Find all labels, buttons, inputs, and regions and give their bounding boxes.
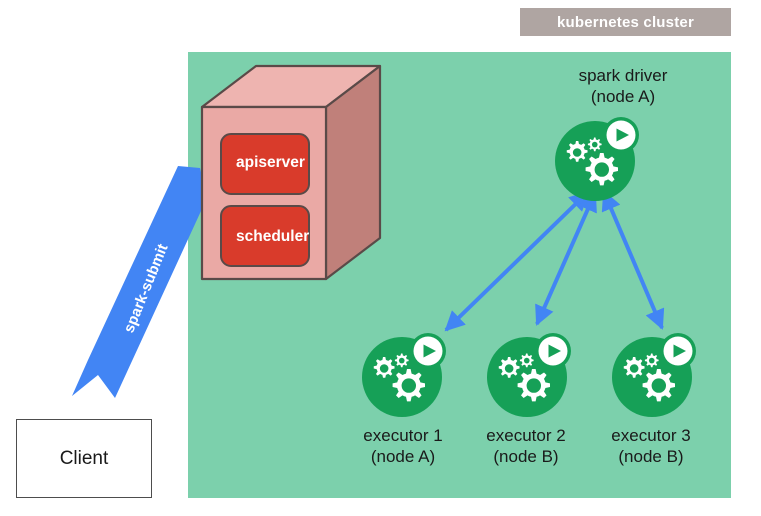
executor-3-label-line1: executor 3: [591, 425, 711, 446]
gears-play-icon: [485, 330, 577, 420]
executor-2-node: [485, 330, 577, 420]
spark-driver-label-line2: (node A): [523, 86, 723, 107]
executor-1-node: [360, 330, 452, 420]
executor-2-label: executor 2 (node B): [466, 425, 586, 468]
executor-3-node: [610, 330, 702, 420]
connection-driver-executor-3: [604, 192, 662, 328]
gears-play-icon: [360, 330, 452, 420]
spark-driver-node: [553, 114, 645, 204]
executor-1-label-line1: executor 1: [343, 425, 463, 446]
executor-1-label: executor 1 (node A): [343, 425, 463, 468]
executor-3-label: executor 3 (node B): [591, 425, 711, 468]
executor-2-label-line2: (node B): [466, 446, 586, 467]
gears-play-icon: [610, 330, 702, 420]
spark-driver-label: spark driver (node A): [523, 65, 723, 108]
executor-3-label-line2: (node B): [591, 446, 711, 467]
diagram-canvas: kubernetes cluster Client spark-submit a…: [0, 0, 761, 516]
spark-driver-label-line1: spark driver: [523, 65, 723, 86]
gears-play-icon: [553, 114, 645, 204]
executor-1-label-line2: (node A): [343, 446, 463, 467]
executor-2-label-line1: executor 2: [466, 425, 586, 446]
